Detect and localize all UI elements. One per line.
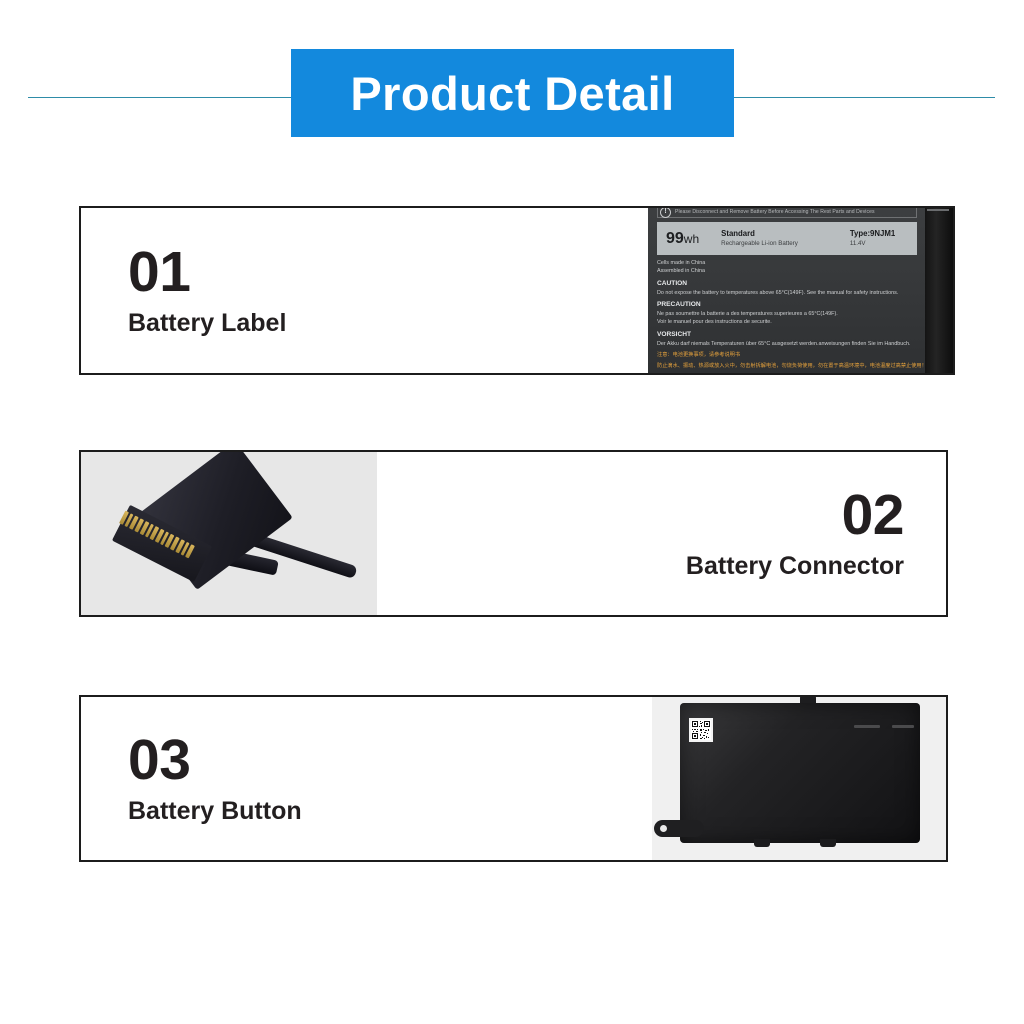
label-chinese-line-2: 防止滴水、振动、热源或放入火中，勿击射拆解电池，勿烧负荷使用，勿在置于高温环境中…: [657, 362, 923, 370]
card-03-text-pane: 03 Battery Button: [81, 697, 651, 860]
label-standard-title: Standard: [721, 229, 798, 239]
battery-pack-photo: [680, 697, 932, 860]
card-01-text-pane: 01 Battery Label: [81, 208, 651, 373]
label-precaution-body-2: Voir le manuel pour des instructions de …: [657, 318, 923, 326]
card-01-caption: Battery Label: [128, 308, 286, 338]
header-banner: Product Detail: [291, 49, 734, 137]
card-02-caption: Battery Connector: [686, 551, 904, 581]
label-standard-sub: Rechargeable Li-ion Battery: [721, 240, 798, 248]
label-notice-block: Cells made in China Assembled in China C…: [657, 259, 923, 371]
label-caution-body: Do not expose the battery to temperature…: [657, 289, 923, 297]
label-warning-bar: ! Please Disconnect and Remove Battery B…: [657, 208, 917, 218]
qr-code-icon: [689, 718, 713, 742]
card-02-number: 02: [842, 486, 904, 544]
label-type-value: Type:9NJM1: [850, 229, 895, 239]
detail-card-03: 03 Battery Button: [79, 695, 948, 862]
label-warning-text: Please Disconnect and Remove Battery Bef…: [675, 209, 875, 215]
label-capacity-unit: wh: [684, 232, 699, 246]
card-02-text-pane: 02 Battery Connector: [376, 452, 946, 615]
label-capacity-value: 99: [666, 230, 684, 247]
pack-vent-slot: [892, 725, 914, 728]
label-vorsicht-body: Der Akku darf niemals Temperaturen über …: [657, 340, 923, 348]
label-vorsicht-heading: VORSICHT: [657, 330, 923, 340]
battery-side-rail: [925, 208, 953, 373]
label-chinese-line-1: 注意：电池更换事项，请参考说明书: [657, 351, 923, 359]
battery-connector-photo: [104, 461, 354, 606]
pack-body: [680, 703, 920, 843]
pack-foot: [754, 839, 770, 847]
label-voltage-value: 11.4V: [850, 240, 895, 248]
label-spec-type: Type:9NJM1 11.4V: [850, 229, 895, 248]
pack-vent-slot: [854, 725, 880, 728]
page-title: Product Detail: [350, 70, 674, 117]
card-03-caption: Battery Button: [128, 796, 302, 826]
label-precaution-heading: PRECAUTION: [657, 300, 923, 310]
pack-mounting-ear: [654, 820, 704, 837]
battery-label-photo: ! Please Disconnect and Remove Battery B…: [648, 208, 953, 373]
label-caution-heading: CAUTION: [657, 279, 923, 289]
page-header: Product Detail: [0, 0, 1024, 160]
card-01-image-pane: ! Please Disconnect and Remove Battery B…: [648, 208, 953, 373]
card-03-number: 03: [128, 731, 190, 789]
exclamation-icon: !: [660, 208, 671, 218]
card-01-number: 01: [128, 243, 190, 301]
card-03-image-pane: [652, 697, 946, 860]
label-origin-cells: Cells made in China: [657, 259, 923, 267]
label-spec-standard: Standard Rechargeable Li-ion Battery: [721, 229, 798, 248]
detail-card-02: 02 Battery Connector: [79, 450, 948, 617]
label-capacity: 99wh: [666, 230, 699, 248]
label-origin-assembled: Assembled in China: [657, 267, 923, 275]
label-precaution-body-1: Ne pas soumettre la batterie a des tempe…: [657, 310, 923, 318]
detail-card-01: 01 Battery Label ! Please Disconnect and…: [79, 206, 955, 375]
pack-foot: [820, 839, 836, 847]
card-02-image-pane: [81, 452, 377, 615]
label-spec-band: 99wh Standard Rechargeable Li-ion Batter…: [657, 222, 917, 255]
